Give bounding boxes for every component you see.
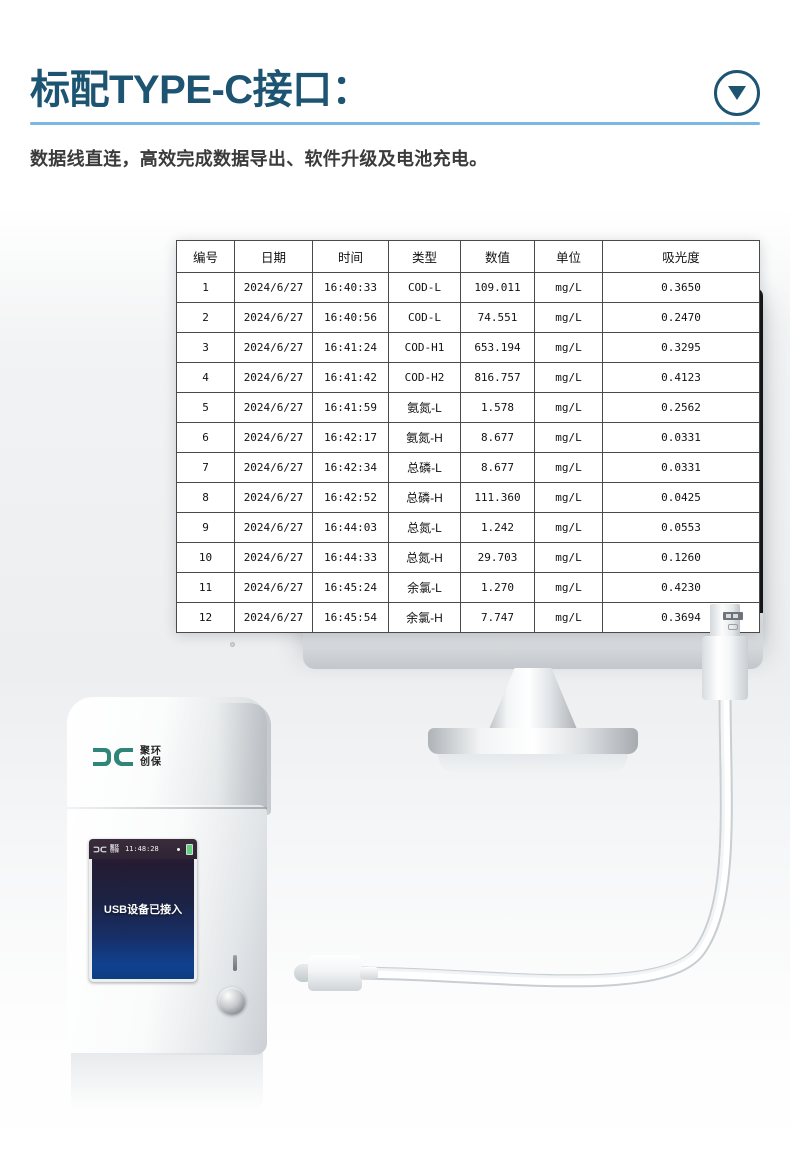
table-row: 42024/6/2716:41:42COD-H2816.757mg/L0.412… xyxy=(177,363,760,393)
cell-no: 10 xyxy=(177,543,235,573)
cell-no: 8 xyxy=(177,483,235,513)
cell-date: 2024/6/27 xyxy=(235,543,313,573)
column-header-date: 日期 xyxy=(235,241,313,273)
table-row: 112024/6/2716:45:24余氯-L1.270mg/L0.4230 xyxy=(177,573,760,603)
cell-time: 16:40:33 xyxy=(313,273,389,303)
column-header-absorbance: 吸光度 xyxy=(603,241,760,273)
results-table: 编号 日期 时间 类型 数值 单位 吸光度 12024/6/2716:40:33… xyxy=(176,240,760,633)
device-status-bar: 聚环 创保 11:48:28 xyxy=(89,839,197,859)
cell-value: 29.703 xyxy=(461,543,535,573)
cell-value: 1.578 xyxy=(461,393,535,423)
cell-time: 16:41:59 xyxy=(313,393,389,423)
cell-date: 2024/6/27 xyxy=(235,573,313,603)
rotary-knob-icon[interactable] xyxy=(218,987,246,1015)
cell-time: 16:44:33 xyxy=(313,543,389,573)
table-row: 52024/6/2716:41:59氨氮-L1.578mg/L0.2562 xyxy=(177,393,760,423)
cell-type: 余氯-H xyxy=(389,603,461,633)
status-dot-icon xyxy=(177,848,180,851)
cell-time: 16:44:03 xyxy=(313,513,389,543)
cell-value: 1.270 xyxy=(461,573,535,603)
cell-time: 16:41:24 xyxy=(313,333,389,363)
cell-type: 总氮-H xyxy=(389,543,461,573)
cell-unit: mg/L xyxy=(535,483,603,513)
cell-time: 16:42:34 xyxy=(313,453,389,483)
cell-absorbance: 0.3295 xyxy=(603,333,760,363)
cell-absorbance: 0.0425 xyxy=(603,483,760,513)
device-reflection xyxy=(71,1053,263,1111)
column-header-no: 编号 xyxy=(177,241,235,273)
type-c-port-icon xyxy=(233,955,237,971)
cell-unit: mg/L xyxy=(535,513,603,543)
cell-type: 氨氮-L xyxy=(389,393,461,423)
cell-date: 2024/6/27 xyxy=(235,453,313,483)
cell-no: 12 xyxy=(177,603,235,633)
cell-unit: mg/L xyxy=(535,333,603,363)
column-header-time: 时间 xyxy=(313,241,389,273)
title-divider xyxy=(30,122,760,125)
cell-date: 2024/6/27 xyxy=(235,423,313,453)
cell-unit: mg/L xyxy=(535,363,603,393)
table-row: 102024/6/2716:44:33总氮-H29.703mg/L0.1260 xyxy=(177,543,760,573)
cell-value: 111.360 xyxy=(461,483,535,513)
cell-value: 7.747 xyxy=(461,603,535,633)
table-row: 62024/6/2716:42:17氨氮-H8.677mg/L0.0331 xyxy=(177,423,760,453)
cell-unit: mg/L xyxy=(535,573,603,603)
cell-date: 2024/6/27 xyxy=(235,483,313,513)
device-screen-message: USB设备已接入 xyxy=(89,901,197,917)
cell-date: 2024/6/27 xyxy=(235,303,313,333)
column-header-value: 数值 xyxy=(461,241,535,273)
cell-time: 16:45:54 xyxy=(313,603,389,633)
panel-screw-left xyxy=(230,642,235,647)
cell-absorbance: 0.0553 xyxy=(603,513,760,543)
cell-unit: mg/L xyxy=(535,303,603,333)
cell-date: 2024/6/27 xyxy=(235,603,313,633)
table-row: 92024/6/2716:44:03总氮-L1.242mg/L0.0553 xyxy=(177,513,760,543)
brand-text-line2: 创保 xyxy=(140,757,162,768)
cell-date: 2024/6/27 xyxy=(235,393,313,423)
cell-time: 16:42:52 xyxy=(313,483,389,513)
cell-no: 6 xyxy=(177,423,235,453)
cell-value: 8.677 xyxy=(461,423,535,453)
monitor-stand-reflection xyxy=(438,754,628,774)
brand-text-line1: 聚环 xyxy=(140,746,162,757)
cell-absorbance: 0.0331 xyxy=(603,453,760,483)
cell-unit: mg/L xyxy=(535,273,603,303)
cell-type: 总磷-L xyxy=(389,453,461,483)
cell-date: 2024/6/27 xyxy=(235,273,313,303)
cell-absorbance: 0.2562 xyxy=(603,393,760,423)
cell-value: 1.242 xyxy=(461,513,535,543)
measurement-data-table: 编号 日期 时间 类型 数值 单位 吸光度 12024/6/2716:40:33… xyxy=(176,240,760,633)
table-row: 122024/6/2716:45:54余氯-H7.747mg/L0.3694 xyxy=(177,603,760,633)
table-row: 12024/6/2716:40:33COD-L109.011mg/L0.3650 xyxy=(177,273,760,303)
cell-absorbance: 0.4230 xyxy=(603,573,760,603)
cell-time: 16:42:17 xyxy=(313,423,389,453)
column-header-type: 类型 xyxy=(389,241,461,273)
cell-value: 653.194 xyxy=(461,333,535,363)
table-row: 82024/6/2716:42:52总磷-H111.360mg/L0.0425 xyxy=(177,483,760,513)
cell-no: 11 xyxy=(177,573,235,603)
column-header-unit: 单位 xyxy=(535,241,603,273)
cell-type: 氨氮-H xyxy=(389,423,461,453)
cell-type: 余氯-L xyxy=(389,573,461,603)
jc-logo-icon xyxy=(91,745,135,769)
cell-type: 总磷-H xyxy=(389,483,461,513)
cell-value: 109.011 xyxy=(461,273,535,303)
cell-time: 16:41:42 xyxy=(313,363,389,393)
table-row: 22024/6/2716:40:56COD-L74.551mg/L0.2470 xyxy=(177,303,760,333)
cell-no: 2 xyxy=(177,303,235,333)
cell-date: 2024/6/27 xyxy=(235,363,313,393)
table-row: 32024/6/2716:41:24COD-H1653.194mg/L0.329… xyxy=(177,333,760,363)
cell-unit: mg/L xyxy=(535,543,603,573)
cell-no: 4 xyxy=(177,363,235,393)
page-subtitle: 数据线直连，高效完成数据导出、软件升级及电池充电。 xyxy=(30,145,488,171)
cell-no: 9 xyxy=(177,513,235,543)
monitor-stand-neck xyxy=(487,668,579,734)
cell-absorbance: 0.4123 xyxy=(603,363,760,393)
table-header-row: 编号 日期 时间 类型 数值 单位 吸光度 xyxy=(177,241,760,273)
usb-c-connector-icon xyxy=(294,955,362,991)
device-clock: 11:48:28 xyxy=(125,845,159,853)
download-circle-icon[interactable] xyxy=(714,70,760,116)
usb-a-connector-icon xyxy=(702,604,748,700)
cell-no: 1 xyxy=(177,273,235,303)
cell-type: 总氮-L xyxy=(389,513,461,543)
cell-type: COD-H2 xyxy=(389,363,461,393)
cell-absorbance: 0.2470 xyxy=(603,303,760,333)
jc-logo-mini-icon xyxy=(93,845,107,854)
cell-unit: mg/L xyxy=(535,423,603,453)
cell-time: 16:40:56 xyxy=(313,303,389,333)
section-header: 标配TYPE-C接口： 数据线直连，高效完成数据导出、软件升级及电池充电。 xyxy=(0,0,790,190)
device-lcd-screen[interactable]: 聚环 创保 11:48:28 USB设备已接入 xyxy=(89,839,197,982)
cell-unit: mg/L xyxy=(535,603,603,633)
cell-no: 7 xyxy=(177,453,235,483)
cell-no: 3 xyxy=(177,333,235,363)
cell-value: 74.551 xyxy=(461,303,535,333)
cell-unit: mg/L xyxy=(535,393,603,423)
device-brand-logo: 聚环 创保 xyxy=(91,745,162,769)
table-row: 72024/6/2716:42:34总磷-L8.677mg/L0.0331 xyxy=(177,453,760,483)
device-seam xyxy=(67,807,267,809)
cell-date: 2024/6/27 xyxy=(235,513,313,543)
cell-absorbance: 0.3650 xyxy=(603,273,760,303)
cell-time: 16:45:24 xyxy=(313,573,389,603)
cell-value: 8.677 xyxy=(461,453,535,483)
cell-no: 5 xyxy=(177,393,235,423)
water-quality-analyzer-device: 聚环 创保 聚环 创保 11:48:28 USB设备已接入 xyxy=(63,697,278,1062)
cell-unit: mg/L xyxy=(535,453,603,483)
device-statusbar-brand: 聚环 创保 xyxy=(110,845,119,854)
battery-full-icon xyxy=(186,844,193,855)
cell-type: COD-L xyxy=(389,303,461,333)
cell-absorbance: 0.1260 xyxy=(603,543,760,573)
table-body: 12024/6/2716:40:33COD-L109.011mg/L0.3650… xyxy=(177,273,760,633)
cell-type: COD-L xyxy=(389,273,461,303)
cell-type: COD-H1 xyxy=(389,333,461,363)
cell-date: 2024/6/27 xyxy=(235,333,313,363)
cell-value: 816.757 xyxy=(461,363,535,393)
page-title: 标配TYPE-C接口： xyxy=(30,57,371,115)
monitor-stand-foot xyxy=(428,728,638,754)
cell-absorbance: 0.0331 xyxy=(603,423,760,453)
